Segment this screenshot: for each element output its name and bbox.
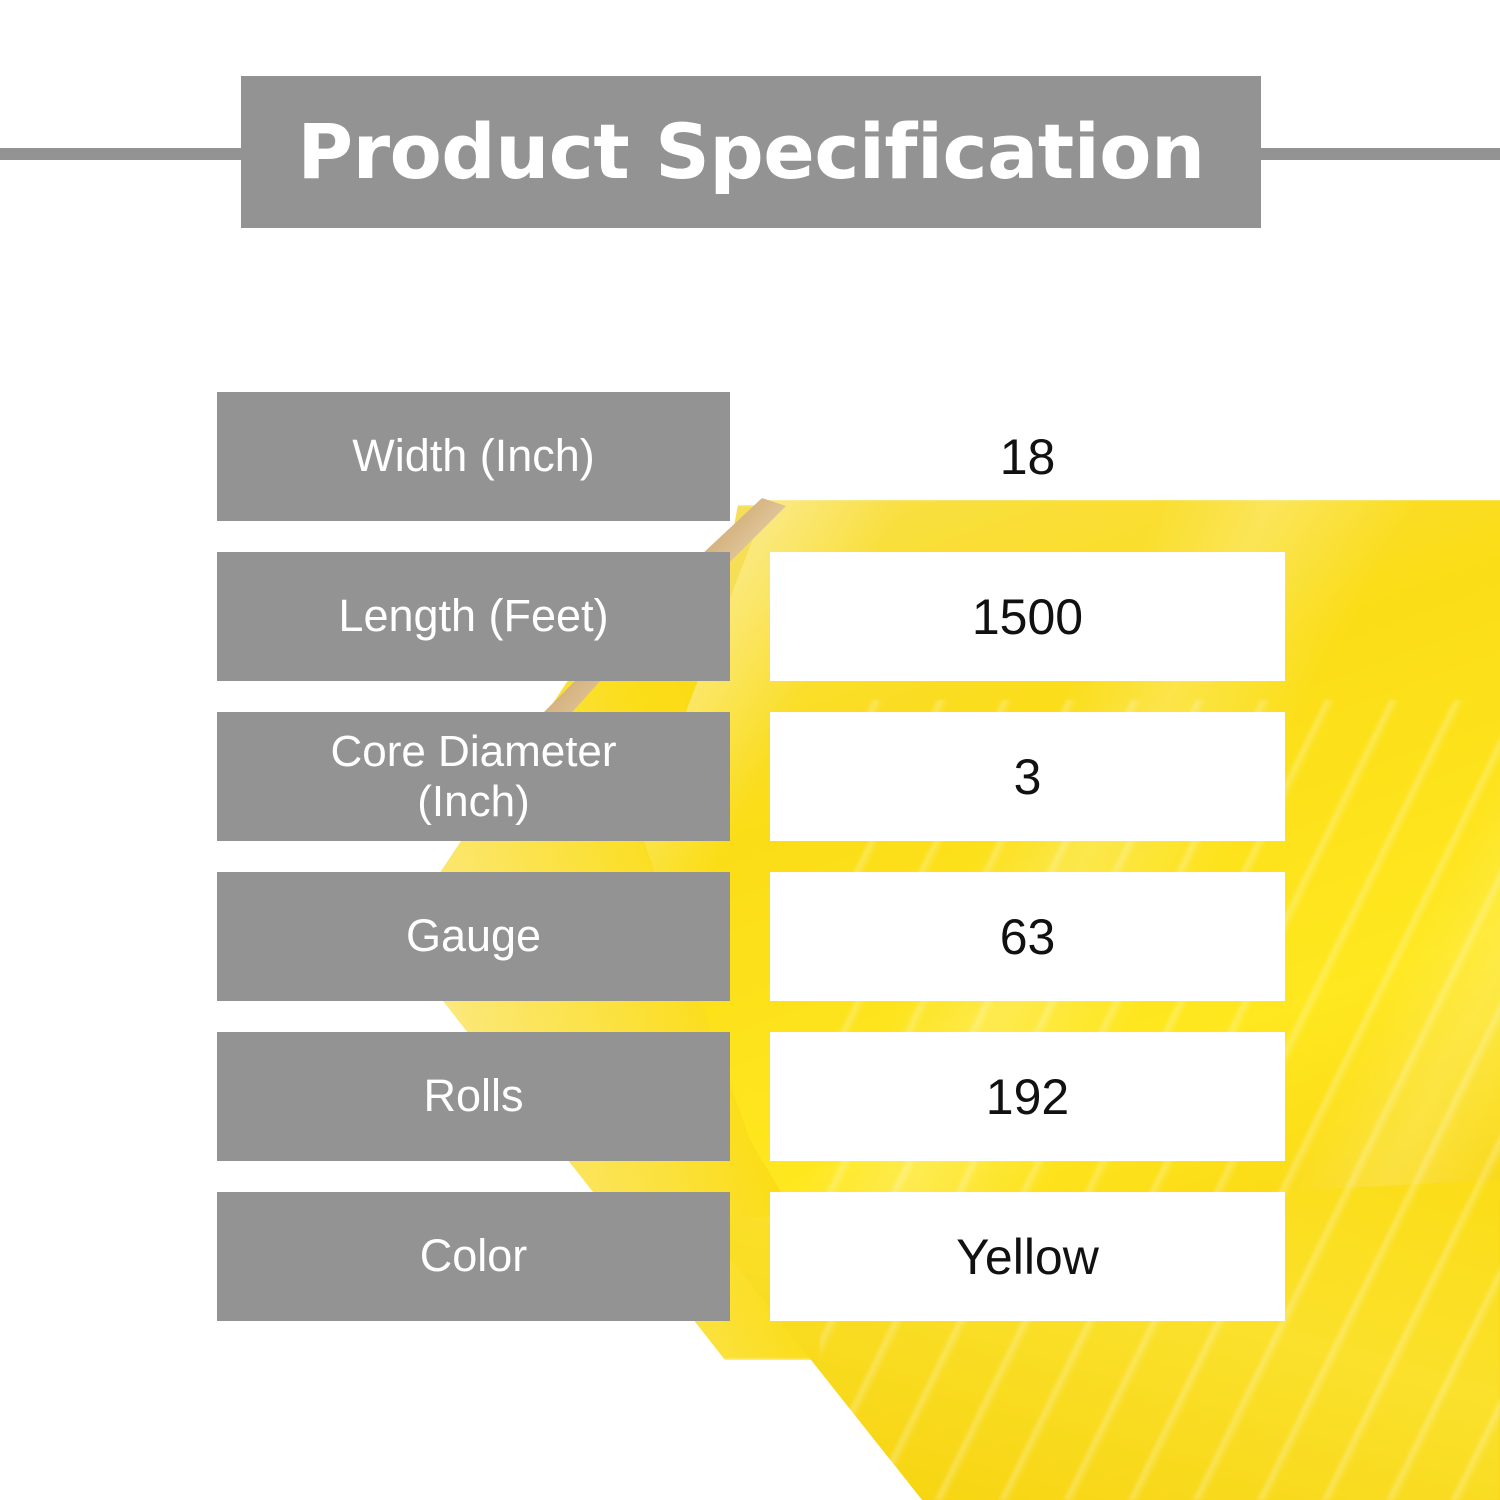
spec-value-length: 1500	[770, 552, 1285, 681]
spec-label-width: Width (Inch)	[217, 392, 730, 521]
spec-label-core-diameter-line1: Core Diameter	[330, 727, 616, 776]
spec-value-width: 18	[770, 392, 1285, 521]
spec-label-core-diameter: Core Diameter (Inch)	[217, 712, 730, 841]
table-row: Length (Feet) 1500	[217, 552, 1285, 681]
table-row: Core Diameter (Inch) 3	[217, 712, 1285, 841]
infographic-canvas: Product Specification Width (Inch) 18 Le…	[0, 0, 1500, 1500]
specification-table: Width (Inch) 18 Length (Feet) 1500 Core …	[217, 392, 1285, 1321]
spec-label-gauge: Gauge	[217, 872, 730, 1001]
header-banner: Product Specification	[241, 76, 1261, 228]
page-title: Product Specification	[297, 114, 1204, 190]
spec-value-rolls: 192	[770, 1032, 1285, 1161]
table-row: Width (Inch) 18	[217, 392, 1285, 521]
table-row: Gauge 63	[217, 872, 1285, 1001]
table-row: Rolls 192	[217, 1032, 1285, 1161]
spec-label-color: Color	[217, 1192, 730, 1321]
spec-label-rolls: Rolls	[217, 1032, 730, 1161]
spec-label-length: Length (Feet)	[217, 552, 730, 681]
spec-value-core-diameter: 3	[770, 712, 1285, 841]
spec-value-gauge: 63	[770, 872, 1285, 1001]
spec-value-color: Yellow	[770, 1192, 1285, 1321]
table-row: Color Yellow	[217, 1192, 1285, 1321]
spec-label-core-diameter-line2: (Inch)	[417, 777, 529, 826]
